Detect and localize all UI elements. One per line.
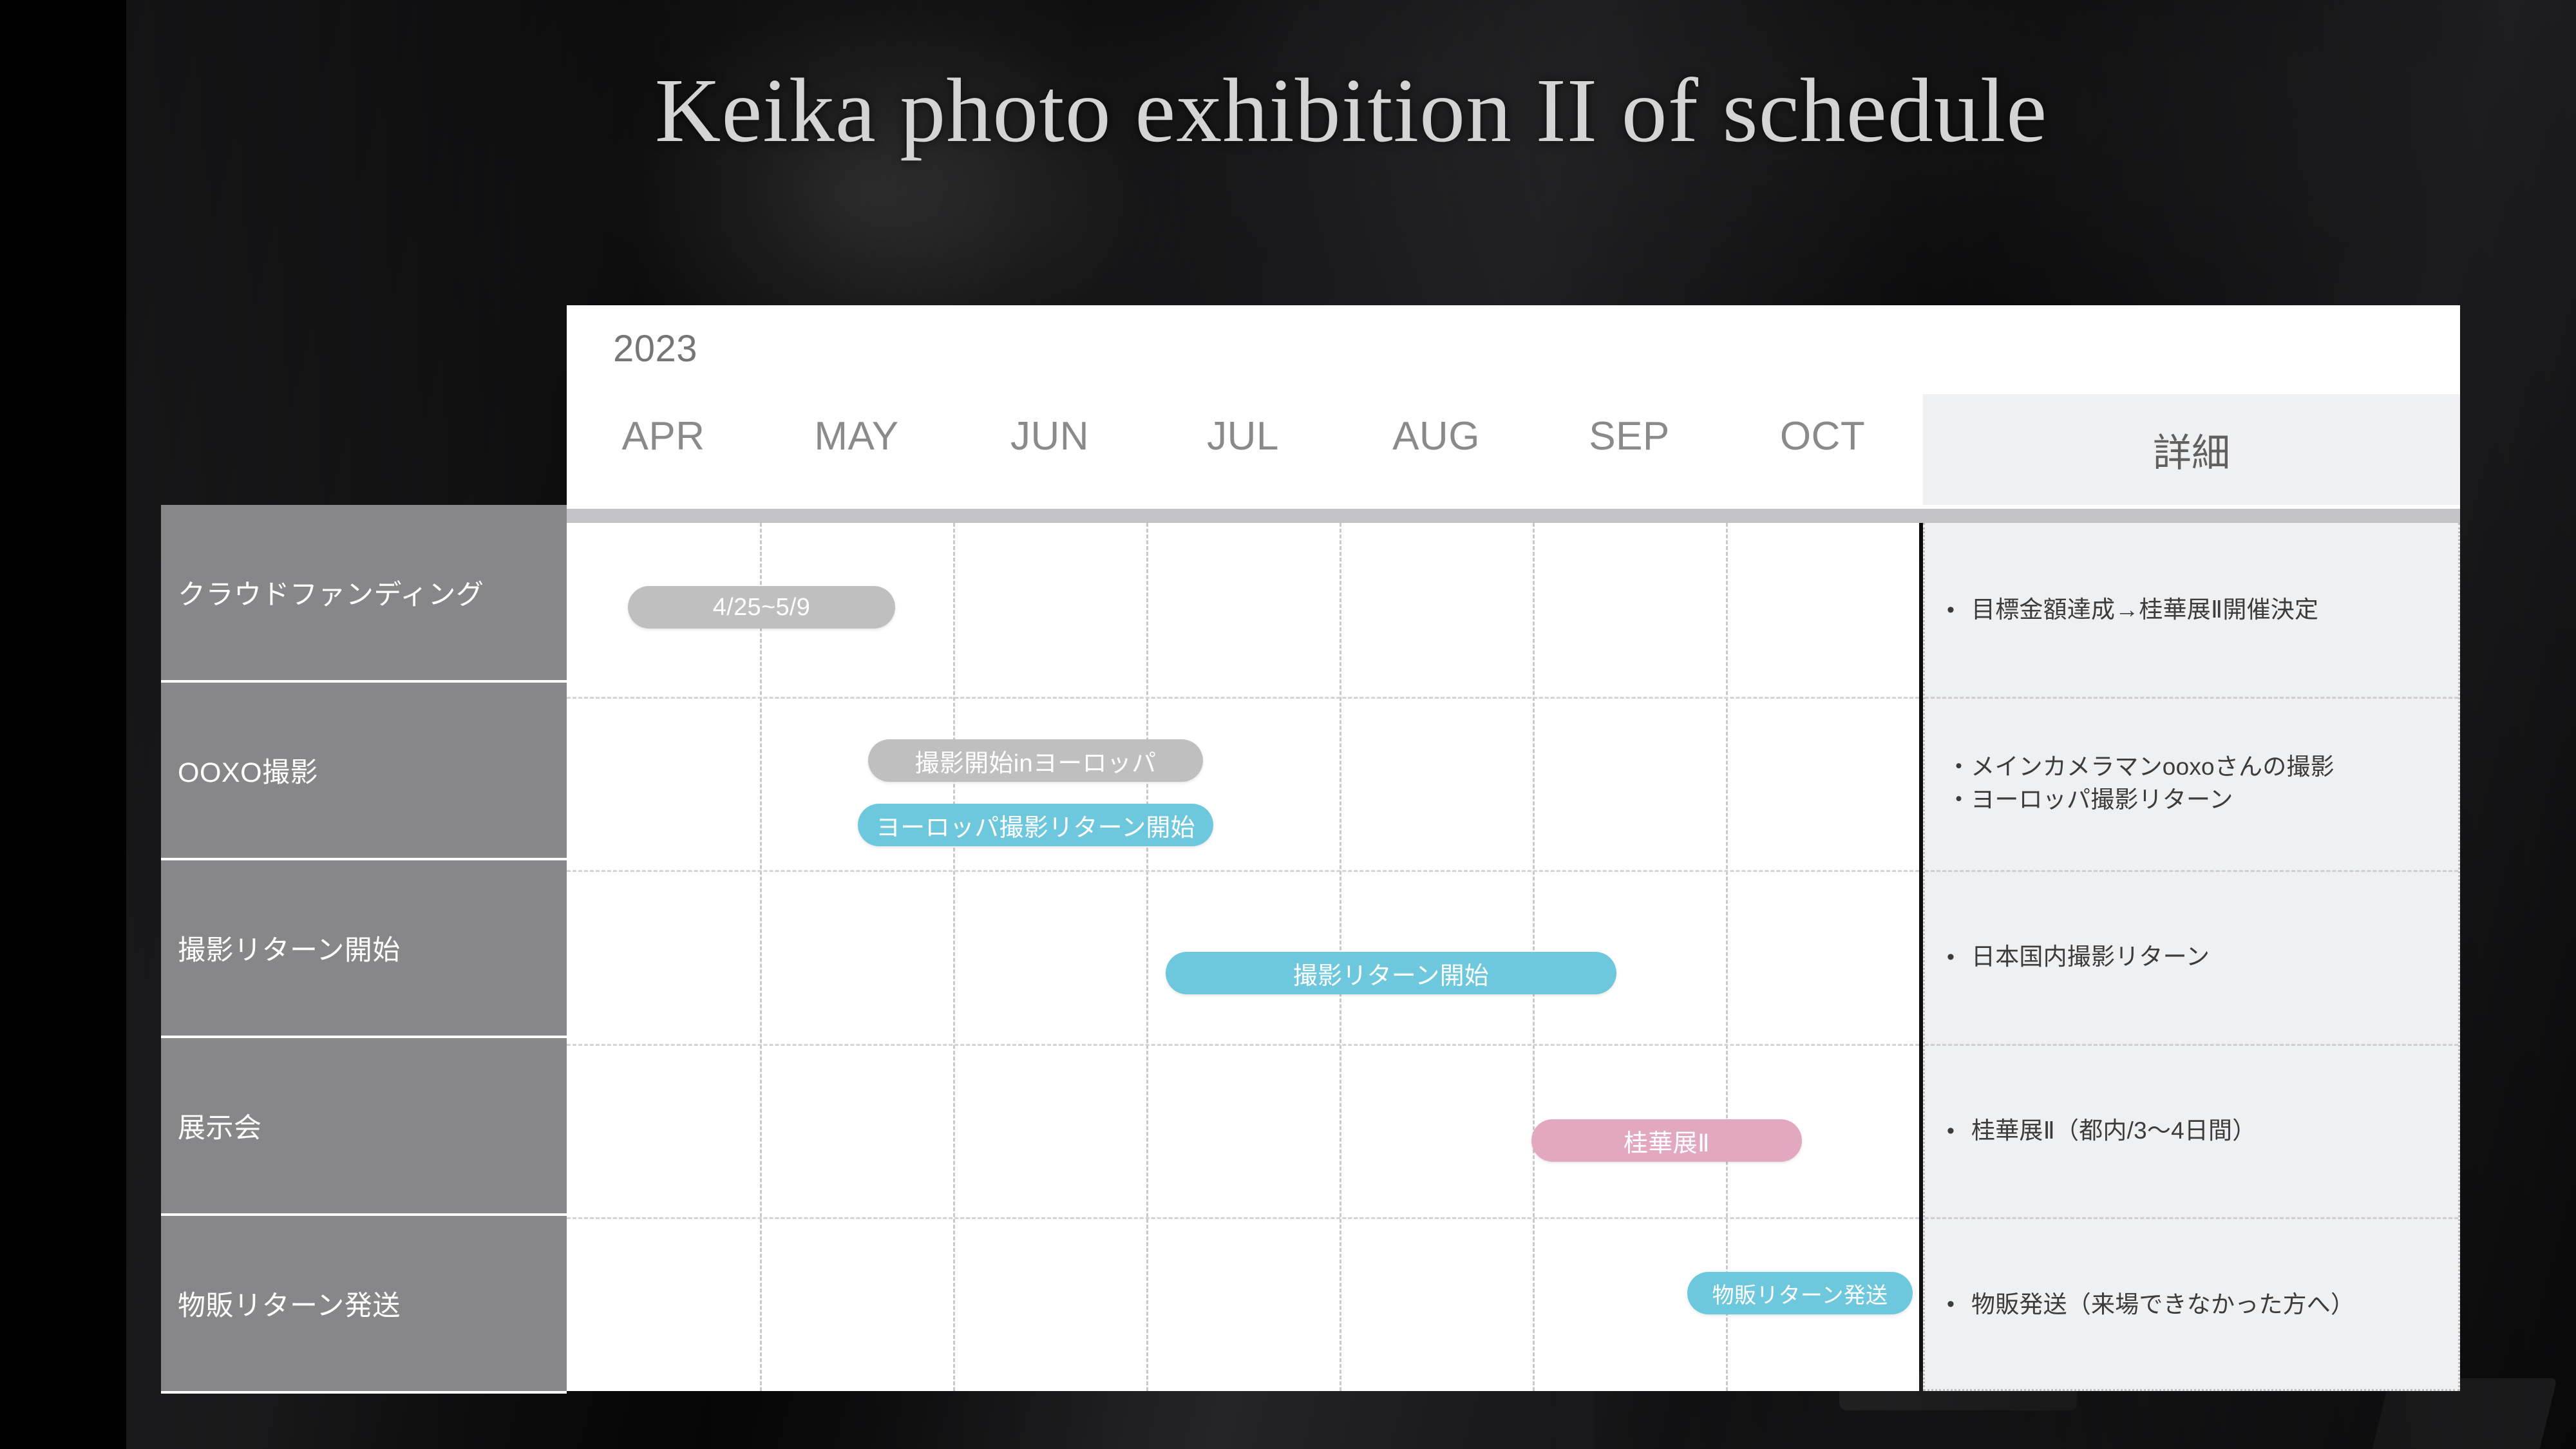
detail-text: 桂華展Ⅱ（都内/3〜4日間） <box>1971 1114 2256 1147</box>
task-label-text: クラウドファンディング <box>178 573 484 612</box>
task-label-text: 撮影リターン開始 <box>178 928 401 968</box>
detail-text: 日本国内撮影リターン <box>1971 940 2210 973</box>
task-label-row[interactable]: 物販リターン発送 <box>161 1216 567 1394</box>
gantt-bar[interactable]: ヨーロッパ撮影リターン開始 <box>858 804 1213 846</box>
task-label-row[interactable]: 展示会 <box>161 1038 567 1216</box>
bullet-icon: • <box>1947 1120 1971 1142</box>
gantt-bar[interactable]: 4/25~5/9 <box>628 586 895 629</box>
month-label-jun: JUN <box>953 399 1146 502</box>
bullet-icon: • <box>1947 946 1971 968</box>
task-label-row[interactable]: OOXO撮影 <box>161 683 567 860</box>
gantt-bar[interactable]: 桂華展Ⅱ <box>1531 1119 1802 1162</box>
detail-text: 目標金額達成→桂華展Ⅱ開催決定 <box>1971 593 2318 626</box>
grid-column-divider <box>1146 523 1148 1391</box>
task-label-text: OOXO撮影 <box>178 750 318 790</box>
gantt-bar-label: 桂華展Ⅱ <box>1624 1123 1710 1159</box>
year-label: 2023 <box>613 327 697 370</box>
bullet-icon: • <box>1947 599 1971 621</box>
month-label-jul: JUL <box>1146 399 1340 502</box>
month-label-sep: SEP <box>1533 399 1726 502</box>
gantt-bar-label: 撮影開始inヨーロッパ <box>915 743 1157 779</box>
detail-row: •物販発送（来場できなかった方へ） <box>1925 1217 2458 1391</box>
grid-row-divider <box>567 697 1919 699</box>
gantt-bar-label: 撮影リターン開始 <box>1293 956 1490 991</box>
gantt-bar-label: ヨーロッパ撮影リターン開始 <box>876 808 1195 843</box>
task-label-column: クラウドファンディングOOXO撮影撮影リターン開始展示会物販リターン発送 <box>161 505 567 1394</box>
task-label-row[interactable]: クラウドファンディング <box>161 505 567 683</box>
detail-text: ・メインカメラマンooxoさんの撮影・ヨーロッパ撮影リターン <box>1947 750 2334 816</box>
grid-column-divider <box>953 523 955 1391</box>
month-label-oct: OCT <box>1726 399 1919 502</box>
grid-row-divider <box>567 1217 1919 1219</box>
gantt-bar-label: 4/25~5/9 <box>713 594 810 621</box>
gantt-bar-label: 物販リターン発送 <box>1712 1278 1888 1309</box>
detail-row: ・メインカメラマンooxoさんの撮影・ヨーロッパ撮影リターン <box>1925 697 2458 871</box>
month-label-aug: AUG <box>1340 399 1533 502</box>
month-label-apr: APR <box>567 399 760 502</box>
gantt-chart: 2023 APR MAY JUN JUL AUG SEP OCT 詳細 •目標金… <box>0 0 2576 1449</box>
month-header-row: APR MAY JUN JUL AUG SEP OCT <box>567 399 1919 502</box>
grid-column-divider <box>1726 523 1728 1391</box>
bullet-icon: • <box>1947 1293 1971 1315</box>
detail-text: 物販発送（来場できなかった方へ） <box>1971 1288 2354 1321</box>
task-label-text: 展示会 <box>178 1106 262 1146</box>
grid-row-divider <box>567 870 1919 872</box>
grid-row-divider <box>567 1044 1919 1046</box>
grid-column-divider <box>760 523 762 1391</box>
detail-column-body: •目標金額達成→桂華展Ⅱ開催決定・メインカメラマンooxoさんの撮影・ヨーロッパ… <box>1923 523 2460 1391</box>
header-divider-rule <box>567 509 2460 523</box>
task-label-text: 物販リターン発送 <box>178 1283 401 1323</box>
detail-row: •桂華展Ⅱ（都内/3〜4日間） <box>1925 1044 2458 1218</box>
detail-column-header: 詳細 <box>1923 394 2460 505</box>
month-label-may: MAY <box>760 399 953 502</box>
slide-canvas: Keika photo exhibition II of schedule 20… <box>0 0 2576 1449</box>
gantt-bar[interactable]: 物販リターン発送 <box>1687 1272 1913 1314</box>
detail-row: •目標金額達成→桂華展Ⅱ開催決定 <box>1925 523 2458 697</box>
gantt-bar[interactable]: 撮影開始inヨーロッパ <box>868 739 1203 782</box>
gantt-bar[interactable]: 撮影リターン開始 <box>1166 952 1616 994</box>
detail-row: •日本国内撮影リターン <box>1925 870 2458 1044</box>
task-label-row[interactable]: 撮影リターン開始 <box>161 860 567 1038</box>
